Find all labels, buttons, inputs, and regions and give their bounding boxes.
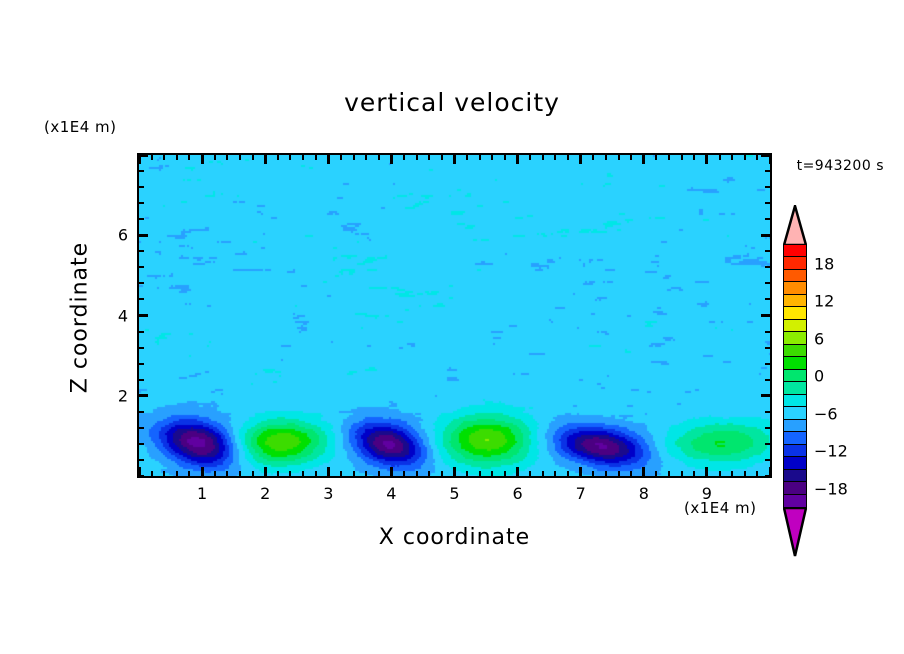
vertical-velocity-contour-field — [139, 155, 770, 476]
colorbar-tick-label: 0 — [814, 367, 824, 386]
x-tick-mark-top — [289, 155, 291, 160]
x-tick-mark-top — [542, 155, 544, 160]
chart-title: vertical velocity — [0, 88, 904, 117]
y-tick-mark-right — [765, 266, 770, 268]
x-tick-mark — [315, 471, 317, 476]
y-tick-mark — [139, 202, 144, 204]
x-tick-mark — [529, 471, 531, 476]
x-tick-mark-top — [365, 155, 367, 160]
x-tick-mark-top — [239, 155, 241, 160]
x-tick-mark — [428, 471, 430, 476]
y-tick-mark-right — [761, 234, 770, 237]
x-tick-mark-top — [693, 155, 695, 160]
y-tick-mark — [139, 475, 144, 477]
x-tick-mark — [466, 471, 468, 476]
y-tick-mark-right — [765, 186, 770, 188]
y-tick-mark — [139, 331, 144, 333]
y-tick-mark-right — [761, 394, 770, 397]
x-tick-label: 2 — [260, 484, 270, 503]
x-tick-mark — [302, 471, 304, 476]
x-tick-label: 9 — [702, 484, 712, 503]
x-tick-mark-top — [630, 155, 632, 160]
x-tick-mark-top — [340, 155, 342, 160]
colorbar-tick-label: −12 — [814, 442, 848, 461]
x-tick-mark-top — [378, 155, 380, 160]
y-tick-mark-right — [765, 459, 770, 461]
x-tick-mark-top — [441, 155, 443, 160]
colorbar-tick-label: 12 — [814, 292, 834, 311]
y-tick-mark-right — [765, 298, 770, 300]
x-tick-mark — [579, 467, 582, 476]
y-tick-mark-right — [765, 475, 770, 477]
x-tick-mark — [693, 471, 695, 476]
y-tick-mark — [139, 234, 148, 237]
x-tick-mark — [176, 471, 178, 476]
x-tick-mark-top — [579, 155, 582, 164]
colorbar-tick-label: −6 — [814, 404, 838, 423]
x-tick-mark-top — [719, 155, 721, 160]
x-tick-mark — [416, 471, 418, 476]
x-axis-title: X coordinate — [137, 525, 772, 550]
x-tick-mark-top — [453, 155, 456, 164]
x-tick-label: 1 — [197, 484, 207, 503]
x-tick-label: 6 — [513, 484, 523, 503]
y-tick-mark-right — [765, 363, 770, 365]
y-tick-mark-right — [765, 250, 770, 252]
y-tick-mark — [139, 427, 144, 429]
x-tick-mark-top — [605, 155, 607, 160]
x-tick-mark-top — [756, 155, 758, 160]
y-tick-mark — [139, 186, 144, 188]
x-tick-mark-top — [567, 155, 569, 160]
x-tick-mark — [655, 471, 657, 476]
x-tick-mark — [756, 471, 758, 476]
x-tick-mark-top — [252, 155, 254, 160]
x-tick-mark-top — [655, 155, 657, 160]
x-tick-mark-top — [163, 155, 165, 160]
x-tick-mark-top — [731, 155, 733, 160]
colorbar-band — [783, 494, 807, 508]
x-tick-mark — [668, 471, 670, 476]
x-tick-mark-top — [327, 155, 330, 164]
y-tick-mark — [139, 379, 144, 381]
y-tick-mark-right — [765, 427, 770, 429]
x-tick-mark-top — [264, 155, 267, 164]
y-tick-label: 2 — [118, 386, 128, 405]
y-tick-mark — [139, 298, 144, 300]
x-tick-mark-top — [618, 155, 620, 160]
x-tick-mark — [289, 471, 291, 476]
colorbar: 181260−6−12−18 — [778, 205, 898, 520]
y-tick-mark — [139, 282, 144, 284]
x-tick-label: 7 — [576, 484, 586, 503]
y-tick-mark — [139, 250, 144, 252]
y-tick-mark — [139, 154, 148, 157]
y-tick-mark — [139, 443, 144, 445]
x-tick-mark — [731, 471, 733, 476]
x-tick-mark — [592, 471, 594, 476]
contour-plot-frame — [137, 153, 772, 478]
x-tick-mark-top — [214, 155, 216, 160]
x-tick-mark-top — [744, 155, 746, 160]
x-tick-mark — [605, 471, 607, 476]
x-tick-mark — [630, 471, 632, 476]
x-tick-mark — [516, 467, 519, 476]
x-tick-mark — [365, 471, 367, 476]
x-tick-mark — [567, 471, 569, 476]
x-tick-mark — [340, 471, 342, 476]
x-axis-unit-label: (x1E4 m) — [684, 499, 757, 517]
x-tick-mark-top — [428, 155, 430, 160]
x-tick-mark-top — [353, 155, 355, 160]
y-tick-mark — [139, 218, 144, 220]
y-tick-mark-right — [765, 170, 770, 172]
colorbar-over-arrow — [783, 205, 807, 246]
x-tick-mark-top — [302, 155, 304, 160]
x-tick-mark-top — [315, 155, 317, 160]
x-tick-label: 8 — [639, 484, 649, 503]
y-tick-mark-right — [765, 202, 770, 204]
x-tick-mark-top — [277, 155, 279, 160]
x-tick-mark — [226, 471, 228, 476]
x-tick-mark-top — [554, 155, 556, 160]
y-tick-mark-right — [765, 282, 770, 284]
y-tick-mark-right — [765, 379, 770, 381]
colorbar-tick-label: −18 — [814, 479, 848, 498]
x-tick-mark-top — [416, 155, 418, 160]
x-tick-mark — [264, 467, 267, 476]
x-tick-mark-top — [642, 155, 645, 164]
colorbar-under-arrow — [783, 507, 807, 557]
colorbar-tick-label: 6 — [814, 329, 824, 348]
x-tick-mark — [378, 471, 380, 476]
y-tick-mark-right — [761, 154, 770, 157]
x-tick-mark — [744, 471, 746, 476]
x-tick-mark-top — [176, 155, 178, 160]
x-tick-mark — [504, 471, 506, 476]
time-annotation: t=943200 s — [797, 158, 884, 174]
colorbar-bands — [783, 245, 807, 508]
x-tick-mark — [441, 471, 443, 476]
x-tick-mark-top — [226, 155, 228, 160]
y-tick-mark-right — [761, 314, 770, 317]
x-tick-mark-top — [504, 155, 506, 160]
x-tick-label: 3 — [323, 484, 333, 503]
x-tick-mark-top — [529, 155, 531, 160]
x-tick-mark — [239, 471, 241, 476]
x-tick-mark-top — [188, 155, 190, 160]
x-tick-mark — [705, 467, 708, 476]
y-tick-mark-right — [765, 443, 770, 445]
x-tick-mark — [453, 467, 456, 476]
x-tick-mark — [252, 471, 254, 476]
x-tick-mark — [618, 471, 620, 476]
x-tick-mark-top — [479, 155, 481, 160]
y-tick-mark — [139, 170, 144, 172]
x-tick-mark-top — [516, 155, 519, 164]
y-tick-label: 4 — [118, 306, 128, 325]
x-tick-mark-top — [681, 155, 683, 160]
x-tick-mark-top — [201, 155, 204, 164]
x-tick-mark-top — [592, 155, 594, 160]
y-tick-mark — [139, 459, 144, 461]
x-tick-mark — [642, 467, 645, 476]
x-tick-label: 4 — [386, 484, 396, 503]
x-tick-mark — [681, 471, 683, 476]
y-tick-mark — [139, 411, 144, 413]
x-tick-mark-top — [668, 155, 670, 160]
x-tick-mark — [151, 471, 153, 476]
x-tick-mark-top — [151, 155, 153, 160]
y-tick-mark-right — [765, 218, 770, 220]
y-tick-mark-right — [765, 411, 770, 413]
x-tick-mark-top — [403, 155, 405, 160]
y-tick-mark — [139, 314, 148, 317]
x-tick-mark — [353, 471, 355, 476]
x-tick-mark-top — [466, 155, 468, 160]
y-axis-unit-label: (x1E4 m) — [44, 118, 117, 136]
x-tick-mark — [491, 471, 493, 476]
x-tick-mark — [188, 471, 190, 476]
y-tick-mark-right — [765, 331, 770, 333]
colorbar-tick-label: 18 — [814, 254, 834, 273]
y-tick-label: 6 — [118, 226, 128, 245]
y-tick-mark-right — [765, 347, 770, 349]
x-tick-mark — [201, 467, 204, 476]
y-tick-mark — [139, 266, 144, 268]
x-tick-mark — [403, 471, 405, 476]
y-axis-ticks: 246 — [88, 153, 128, 478]
x-tick-mark-top — [491, 155, 493, 160]
x-tick-mark — [554, 471, 556, 476]
x-tick-mark-top — [705, 155, 708, 164]
x-tick-mark — [277, 471, 279, 476]
x-tick-mark — [327, 467, 330, 476]
x-tick-mark — [214, 471, 216, 476]
y-tick-mark — [139, 347, 144, 349]
x-tick-mark — [479, 471, 481, 476]
y-tick-mark — [139, 363, 144, 365]
x-tick-mark — [542, 471, 544, 476]
x-tick-mark — [719, 471, 721, 476]
x-tick-mark — [390, 467, 393, 476]
x-tick-mark-top — [390, 155, 393, 164]
x-tick-mark — [163, 471, 165, 476]
y-tick-mark — [139, 394, 148, 397]
x-tick-label: 5 — [449, 484, 459, 503]
